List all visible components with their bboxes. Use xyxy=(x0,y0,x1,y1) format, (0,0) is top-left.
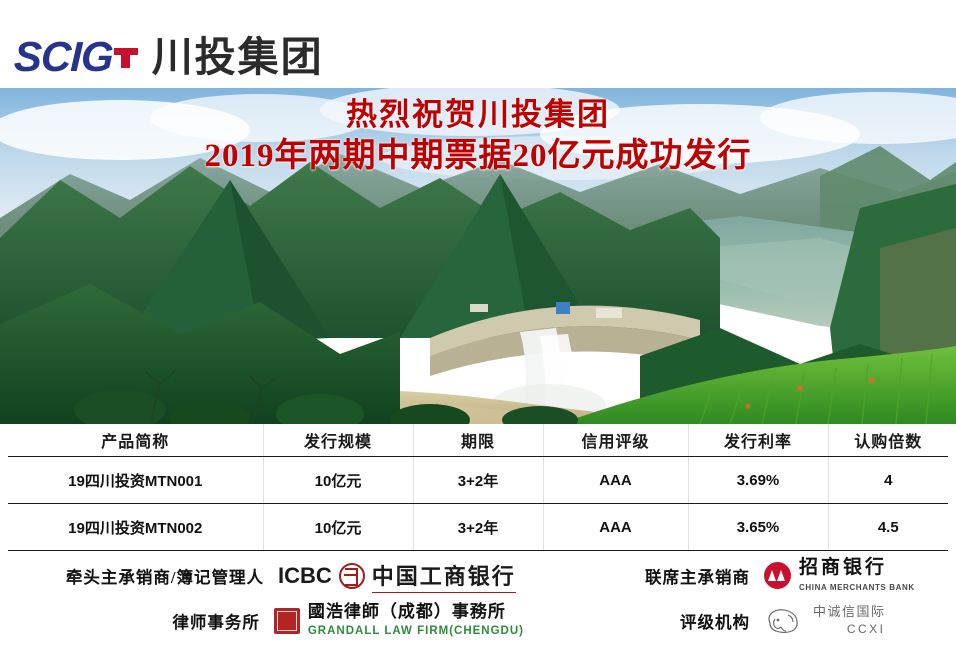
th-subscription-multiple: 认购倍数 xyxy=(828,424,948,457)
grandall-logo-chinese: 國浩律師（成都）事務所 xyxy=(308,602,506,621)
red-seal-icon xyxy=(274,608,300,634)
footer-left-column: 牵头主承销商/簿记管理人 ICBC 中国工商银行 律师事务所 國浩律師（成都）事… xyxy=(14,556,524,641)
footer-row-rating-agency: 评级机构 中诚信国际 CCXI xyxy=(560,601,950,641)
cmb-logo-english: CHINA MERCHANTS BANK xyxy=(799,583,915,592)
ccxi-logo-chinese: 中诚信国际 xyxy=(813,604,886,619)
cell-credit-rating: AAA xyxy=(543,457,688,504)
scig-logo-latin: SCIG xyxy=(13,36,113,78)
poster-canvas: SCIG 川投集团 xyxy=(0,0,956,653)
red-cross-mark-icon xyxy=(114,40,138,74)
cmb-logo-chinese: 招商银行 xyxy=(799,557,887,578)
th-issue-scale: 发行规模 xyxy=(263,424,413,457)
ccxi-logo: 中诚信国际 CCXI xyxy=(764,604,886,638)
label-law-firm: 律师事务所 xyxy=(14,609,260,633)
cell-subscription-multiple: 4 xyxy=(828,457,948,504)
footer-row-law-firm: 律师事务所 國浩律師（成都）事務所 GRANDALL LAW FIRM(CHEN… xyxy=(14,601,524,641)
footer-row-joint-underwriter: 联席主承销商 招商银行 CHINA MERCHANTS BANK xyxy=(560,556,950,596)
icbc-logo-latin: ICBC xyxy=(278,563,332,589)
icbc-logo-chinese: 中国工商银行 xyxy=(372,559,516,593)
cell-credit-rating: AAA xyxy=(543,504,688,551)
cell-issue-scale: 10亿元 xyxy=(263,457,413,504)
scig-logo: SCIG 川投集团 xyxy=(14,36,324,78)
grandall-logo-english: GRANDALL LAW FIRM(CHENGDU) xyxy=(308,625,524,637)
cell-tenor: 3+2年 xyxy=(413,504,543,551)
header-bar: SCIG 川投集团 xyxy=(0,0,956,88)
table-header-row: 产品简称 发行规模 期限 信用评级 发行利率 认购倍数 xyxy=(8,424,948,457)
table-row: 19四川投资MTN001 10亿元 3+2年 AAA 3.69% 4 xyxy=(8,457,948,504)
hero-photo: 热烈祝贺川投集团 2019年两期中期票据20亿元成功发行 xyxy=(0,88,956,424)
grandall-law-firm-logo: 國浩律師（成都）事務所 GRANDALL LAW FIRM(CHENGDU) xyxy=(274,603,524,639)
scig-logo-chinese: 川投集团 xyxy=(152,37,324,78)
cell-issue-rate: 3.65% xyxy=(688,504,828,551)
china-merchants-bank-logo: 招商银行 CHINA MERCHANTS BANK xyxy=(764,558,915,595)
cmb-arrow-icon xyxy=(764,562,791,589)
th-credit-rating: 信用评级 xyxy=(543,424,688,457)
cell-product-name: 19四川投资MTN002 xyxy=(8,504,263,551)
th-product-name: 产品简称 xyxy=(8,424,263,457)
footer-row-lead-underwriter: 牵头主承销商/簿记管理人 ICBC 中国工商银行 xyxy=(14,556,524,596)
cell-subscription-multiple: 4.5 xyxy=(828,504,948,551)
label-lead-underwriter: 牵头主承销商/簿记管理人 xyxy=(14,564,264,588)
label-rating-agency: 评级机构 xyxy=(560,609,750,633)
deal-table: 产品简称 发行规模 期限 信用评级 发行利率 认购倍数 19四川投资MTN001… xyxy=(8,424,948,551)
cell-issue-scale: 10亿元 xyxy=(263,504,413,551)
th-issue-rate: 发行利率 xyxy=(688,424,828,457)
footer-right-column: 联席主承销商 招商银行 CHINA MERCHANTS BANK 评级机构 xyxy=(560,556,950,641)
icbc-logo: ICBC 中国工商银行 xyxy=(278,559,516,593)
cell-tenor: 3+2年 xyxy=(413,457,543,504)
icbc-seal-icon xyxy=(339,563,365,589)
label-joint-underwriter: 联席主承销商 xyxy=(560,564,750,588)
footer-partners: 牵头主承销商/簿记管理人 ICBC 中国工商银行 律师事务所 國浩律師（成都）事… xyxy=(0,556,956,653)
th-tenor: 期限 xyxy=(413,424,543,457)
cell-product-name: 19四川投资MTN001 xyxy=(8,457,263,504)
elephant-icon xyxy=(764,607,804,635)
cell-issue-rate: 3.69% xyxy=(688,457,828,504)
dam-landscape-illustration xyxy=(0,88,956,424)
deal-table-section: 产品简称 发行规模 期限 信用评级 发行利率 认购倍数 19四川投资MTN001… xyxy=(0,424,956,553)
table-row: 19四川投资MTN002 10亿元 3+2年 AAA 3.65% 4.5 xyxy=(8,504,948,551)
ccxi-logo-english: CCXI xyxy=(847,622,886,636)
